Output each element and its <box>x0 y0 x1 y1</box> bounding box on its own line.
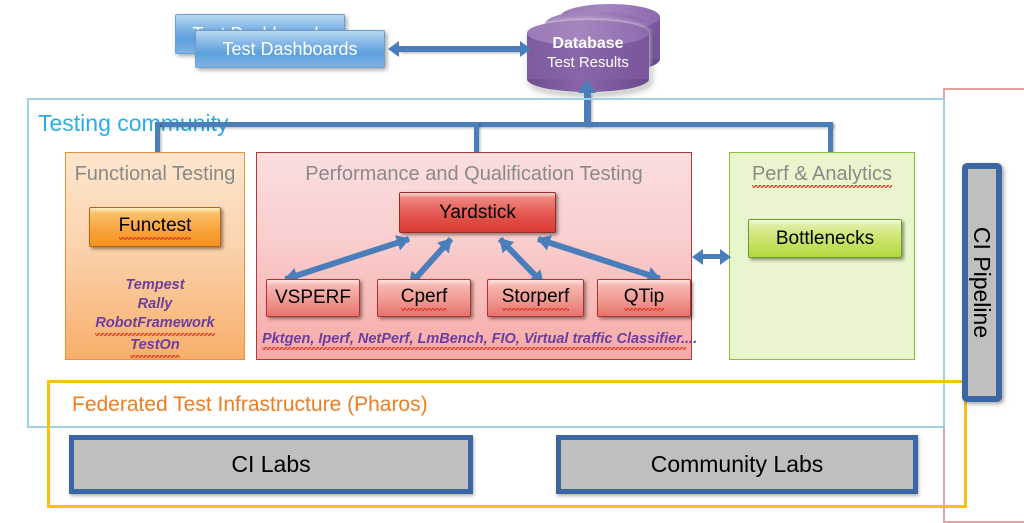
functional-tools-list: Tempest Rally RobotFramework TestOn <box>65 276 245 358</box>
qtip-button-label: QTip <box>624 286 664 311</box>
functest-button[interactable]: Functest <box>89 207 221 247</box>
vsperf-button-label: VSPERF <box>275 287 351 309</box>
vsperf-button[interactable]: VSPERF <box>266 279 360 317</box>
bus-drop-analytics <box>828 122 833 156</box>
panel-analytics-title: Perf & Analytics <box>730 163 914 186</box>
community-labs-label: Community Labs <box>651 451 824 478</box>
cperf-button[interactable]: Cperf <box>377 279 471 317</box>
storperf-button[interactable]: Storperf <box>487 279 584 317</box>
dashboards-arrowhead-left <box>388 41 399 57</box>
panel-analytics-title-text: Perf & Analytics <box>752 163 892 188</box>
bus-drop-functional <box>155 122 160 156</box>
list-item: Rally <box>65 295 245 314</box>
bus-drop-performance <box>474 122 479 156</box>
panel-performance-title: Performance and Qualification Testing <box>257 163 691 186</box>
database-title: Database <box>527 34 649 53</box>
list-item: RobotFramework <box>65 314 245 336</box>
community-labs-box[interactable]: Community Labs <box>556 435 918 494</box>
panel-functional-title: Functional Testing <box>66 163 244 186</box>
performance-analytics-arrowhead-right <box>720 249 731 265</box>
performance-tools-text: Pktgen, Iperf, NetPerf, LmBench, FIO, Vi… <box>262 331 686 350</box>
list-item: TestOn <box>65 336 245 358</box>
database-subtitle: Test Results <box>527 53 649 72</box>
cperf-button-label: Cperf <box>401 286 447 311</box>
database-up-arrowhead <box>578 80 596 93</box>
panel-performance-qualification-testing: Performance and Qualification Testing <box>256 152 692 360</box>
list-item: Tempest <box>65 276 245 295</box>
database-label: Database Test Results <box>527 34 649 72</box>
bottlenecks-button-label: Bottlenecks <box>776 228 874 250</box>
performance-analytics-connector <box>701 254 721 259</box>
results-bus-horizontal <box>155 122 833 127</box>
ci-labs-label: CI Labs <box>231 451 310 478</box>
ci-pipeline-box[interactable]: CI Pipeline <box>962 163 1002 402</box>
qtip-button[interactable]: QTip <box>597 279 691 317</box>
ci-pipeline-label: CI Pipeline <box>969 227 996 338</box>
performance-analytics-arrowhead-left <box>692 249 703 265</box>
yardstick-button-label: Yardstick <box>439 202 516 224</box>
test-dashboards-front-label: Test Dashboards <box>222 39 357 60</box>
yardstick-button[interactable]: Yardstick <box>399 192 556 233</box>
functest-button-label: Functest <box>119 215 192 240</box>
test-dashboards-box-front[interactable]: Test Dashboards <box>195 30 385 68</box>
bottlenecks-button[interactable]: Bottlenecks <box>748 219 902 258</box>
pharos-label: Federated Test Infrastructure (Pharos) <box>72 393 428 417</box>
database-arrowhead-right <box>520 41 531 57</box>
ci-labs-box[interactable]: CI Labs <box>69 435 473 494</box>
storperf-button-label: Storperf <box>502 286 570 311</box>
dashboards-database-connector <box>399 46 521 52</box>
